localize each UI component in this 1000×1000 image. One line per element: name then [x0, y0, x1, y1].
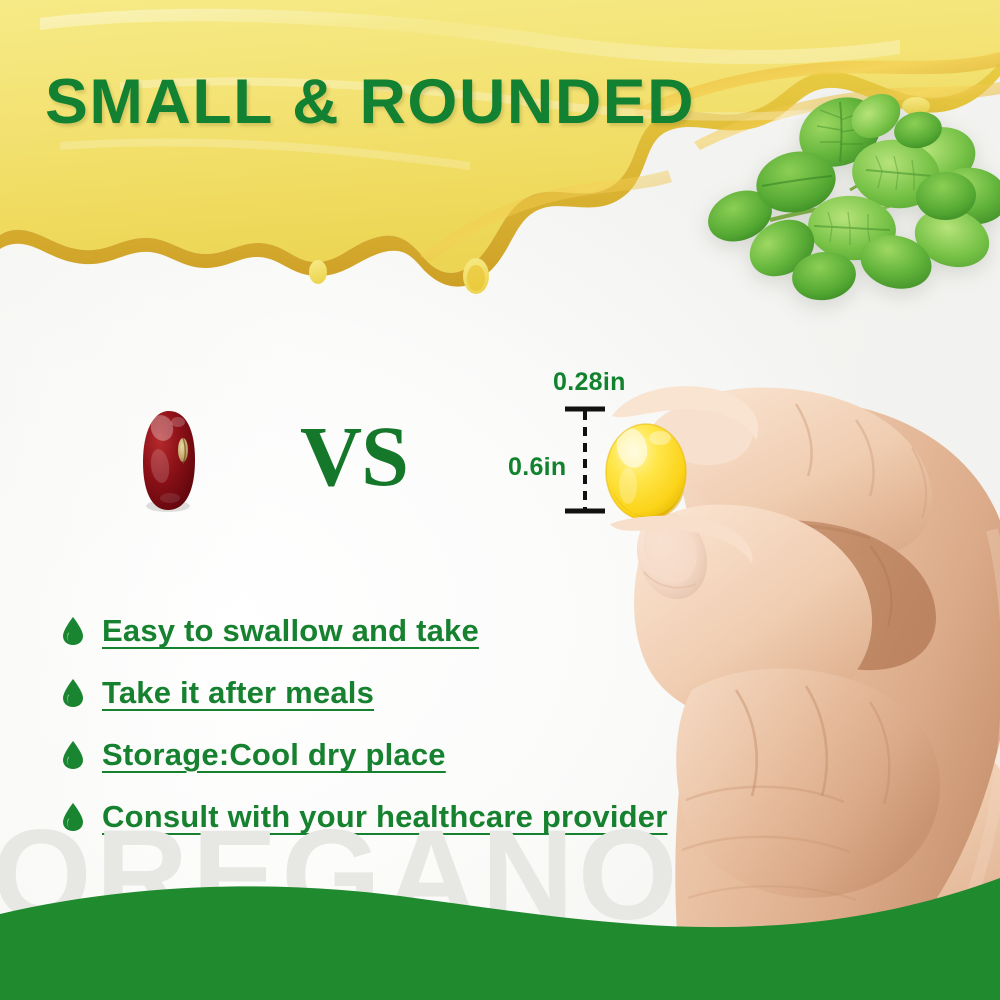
- list-item: Storage:Cool dry place: [62, 724, 722, 786]
- infographic-canvas: SMALL & ROUNDED: [0, 0, 1000, 1000]
- bottom-wave-banner: [0, 870, 1000, 1000]
- list-item-label: Easy to swallow and take: [102, 613, 479, 649]
- oregano-leaves-icon: [700, 70, 1000, 305]
- drop-icon: [62, 678, 84, 708]
- measurement-height-label: 0.6in: [508, 453, 566, 482]
- list-item-label: Take it after meals: [102, 675, 374, 711]
- list-item: Take it after meals: [62, 662, 722, 724]
- drop-icon: [62, 740, 84, 770]
- versus-label: VS: [300, 413, 408, 499]
- list-item: Easy to swallow and take: [62, 600, 722, 662]
- page-title: SMALL & ROUNDED: [45, 66, 695, 138]
- list-item-label: Storage:Cool dry place: [102, 737, 446, 773]
- drop-icon: [62, 616, 84, 646]
- kidney-bean-icon: [138, 408, 200, 516]
